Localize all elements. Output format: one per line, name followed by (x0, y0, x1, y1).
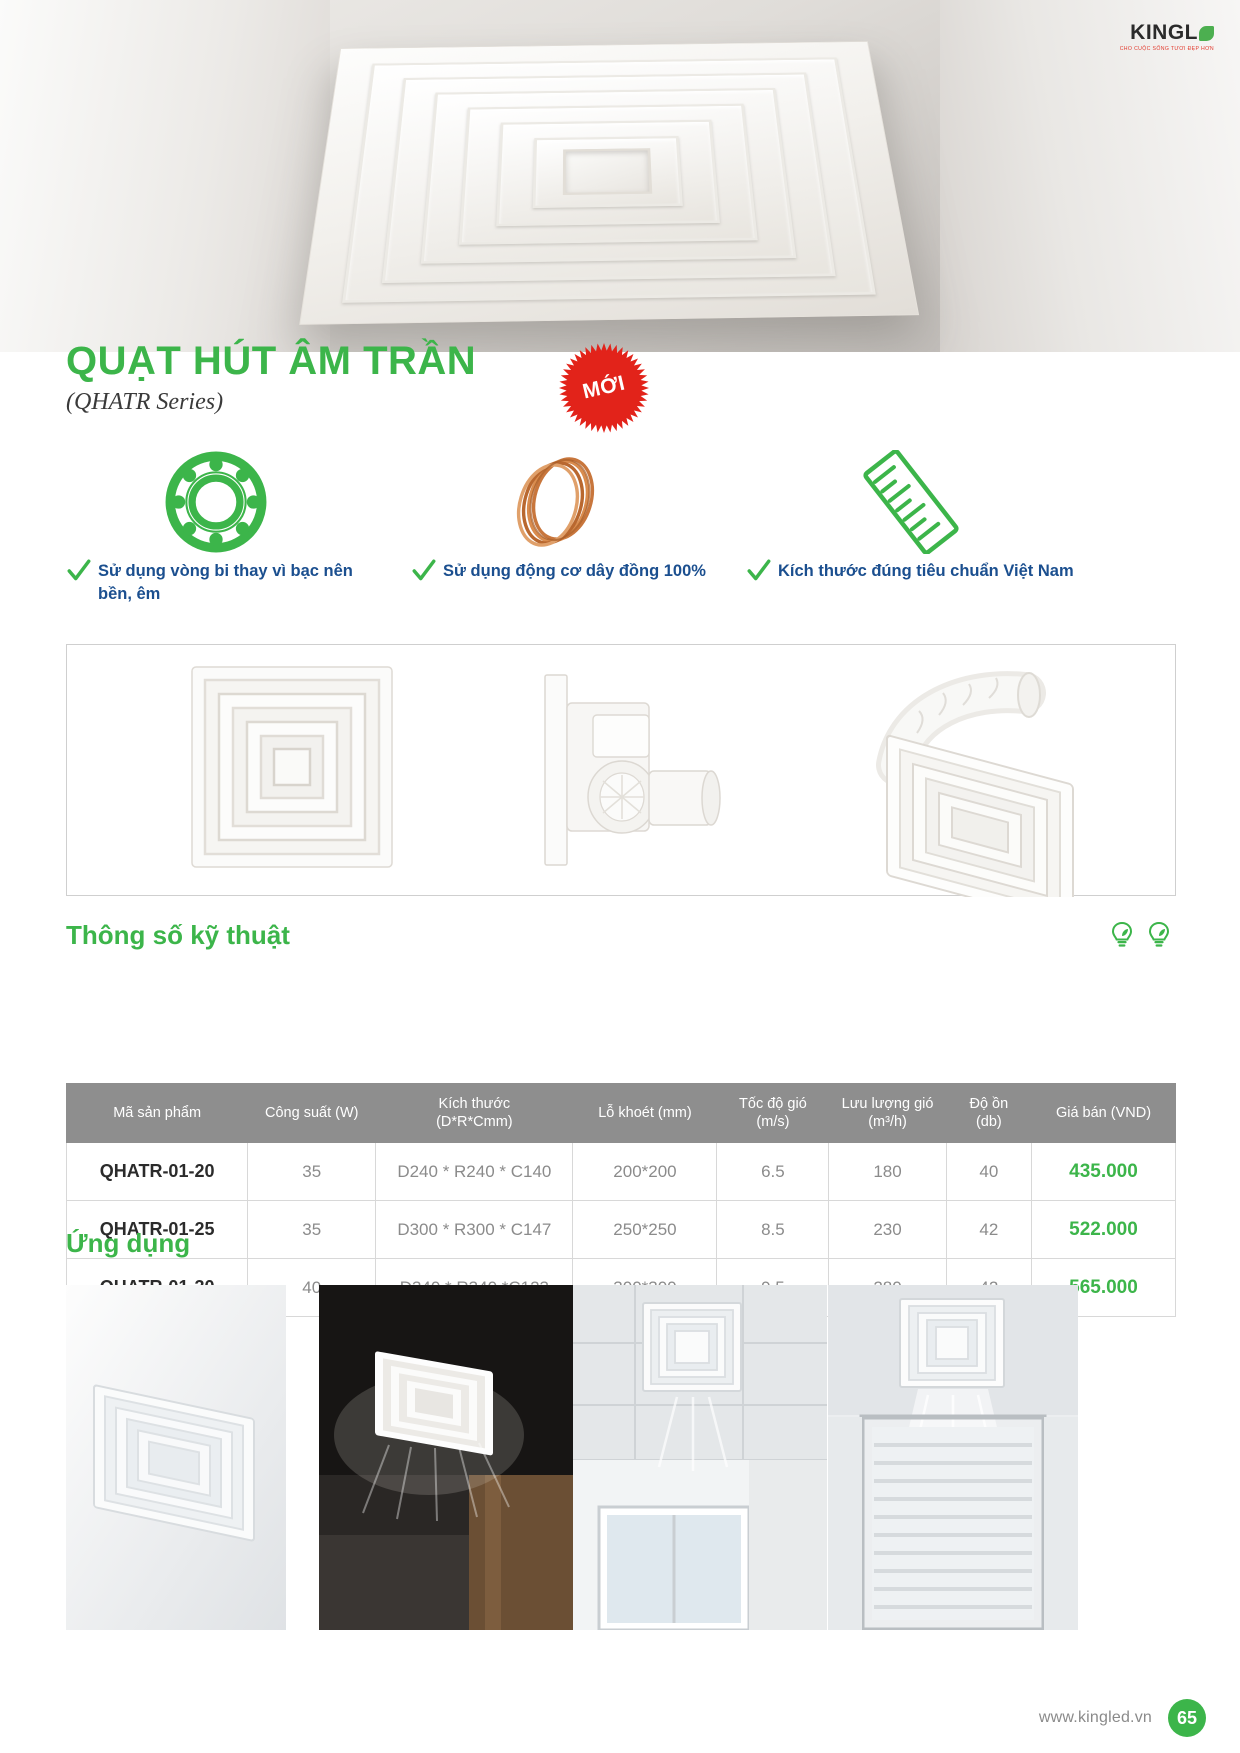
brand-logo: KINGL CHO CUỘC SỐNG TƯƠI ĐẸP HƠN (1094, 22, 1214, 66)
specification-table: Mã sản phẩm Công suất (W) Kích thước (D*… (66, 1083, 1176, 1317)
column-header-speed: Tốc độ gió (m/s) (717, 1084, 829, 1143)
column-header-code: Mã sản phẩm (67, 1084, 248, 1143)
cell-price: 522.000 (1031, 1201, 1175, 1259)
hero-ceiling-fan-grille (299, 41, 919, 325)
column-header-noise: Độ ồn (db) (946, 1084, 1031, 1143)
ball-bearing-icon (66, 452, 366, 552)
ruler-icon (746, 452, 1076, 552)
product-shot-front (107, 645, 467, 897)
table-row: QHATR-01-20 35 D240 * R240 * C140 200*20… (67, 1143, 1176, 1201)
cell-noise: 40 (946, 1143, 1031, 1201)
application-image-bathroom (828, 1285, 1078, 1630)
application-image-ceiling-closeup (66, 1285, 286, 1630)
page-title-block: QUẠT HÚT ÂM TRẦN (QHATR Series) (66, 340, 476, 416)
product-shot-angled (767, 645, 1167, 897)
cell-hole: 250*250 (573, 1201, 717, 1259)
bulb-leaf-icon (1144, 920, 1174, 950)
table-header-row: Mã sản phẩm Công suất (W) Kích thước (D*… (67, 1084, 1176, 1143)
new-badge: MỚI (558, 343, 650, 433)
cell-price: 435.000 (1031, 1143, 1175, 1201)
page-title: QUẠT HÚT ÂM TRẦN (66, 340, 476, 383)
cell-speed: 6.5 (717, 1143, 829, 1201)
spec-section-heading: Thông số kỹ thuật (66, 920, 290, 951)
cell-noise: 42 (946, 1201, 1031, 1259)
feature-label: Sử dụng động cơ dây đồng 100% (443, 560, 706, 583)
cell-size: D240 * R240 * C140 (376, 1143, 573, 1201)
brand-name-part1: KINGL (1130, 21, 1198, 44)
cell-code: QHATR-01-20 (67, 1143, 248, 1201)
brand-tagline: CHO CUỘC SỐNG TƯƠI ĐẸP HƠN (1094, 46, 1214, 52)
cell-power: 35 (248, 1201, 376, 1259)
eco-bulb-icons (1107, 920, 1174, 950)
application-image-row (66, 1285, 1176, 1630)
feature-item-copper: Sử dụng động cơ dây đồng 100% (411, 452, 711, 584)
footer-website-url: www.kingled.vn (1039, 1709, 1152, 1727)
product-photo-gallery (66, 644, 1176, 896)
leaf-bulb-icon (1199, 26, 1214, 41)
copper-coil-icon (411, 452, 711, 552)
hero-product-photo (0, 0, 1240, 352)
check-icon (411, 558, 437, 584)
column-header-hole: Lỗ khoét (mm) (573, 1084, 717, 1143)
application-image-dark-ceiling (319, 1285, 573, 1630)
page-subtitle: (QHATR Series) (66, 389, 476, 416)
column-header-price: Giá bán (VND) (1031, 1084, 1175, 1143)
cell-speed: 8.5 (717, 1201, 829, 1259)
cell-power: 35 (248, 1143, 376, 1201)
bulb-leaf-icon (1107, 920, 1137, 950)
column-header-size: Kích thước (D*R*Cmm) (376, 1084, 573, 1143)
cell-flow: 180 (829, 1143, 946, 1201)
application-image-tiled-ceiling (573, 1285, 827, 1630)
feature-item-size: Kích thước đúng tiêu chuẩn Việt Nam (746, 452, 1076, 584)
check-icon (66, 558, 92, 584)
column-header-flow: Lưu lượng gió (m³/h) (829, 1084, 946, 1143)
feature-label: Sử dụng vòng bi thay vì bạc nên bền, êm (98, 560, 366, 606)
check-icon (746, 558, 772, 584)
product-shot-side (497, 645, 797, 897)
cell-hole: 200*200 (573, 1143, 717, 1201)
hero-left-shade (0, 0, 330, 352)
cell-size: D300 * R300 * C147 (376, 1201, 573, 1259)
table-row: QHATR-01-25 35 D300 * R300 * C147 250*25… (67, 1201, 1176, 1259)
feature-label: Kích thước đúng tiêu chuẩn Việt Nam (778, 560, 1074, 583)
feature-list: Sử dụng vòng bi thay vì bạc nên bền, êm (66, 452, 1176, 612)
brand-wordmark: KINGL (1094, 22, 1214, 43)
page-number-badge: 65 (1168, 1699, 1206, 1737)
cell-flow: 230 (829, 1201, 946, 1259)
application-section-heading: Ứng dụng (66, 1228, 190, 1259)
column-header-power: Công suất (W) (248, 1084, 376, 1143)
feature-item-bearing: Sử dụng vòng bi thay vì bạc nên bền, êm (66, 452, 366, 606)
